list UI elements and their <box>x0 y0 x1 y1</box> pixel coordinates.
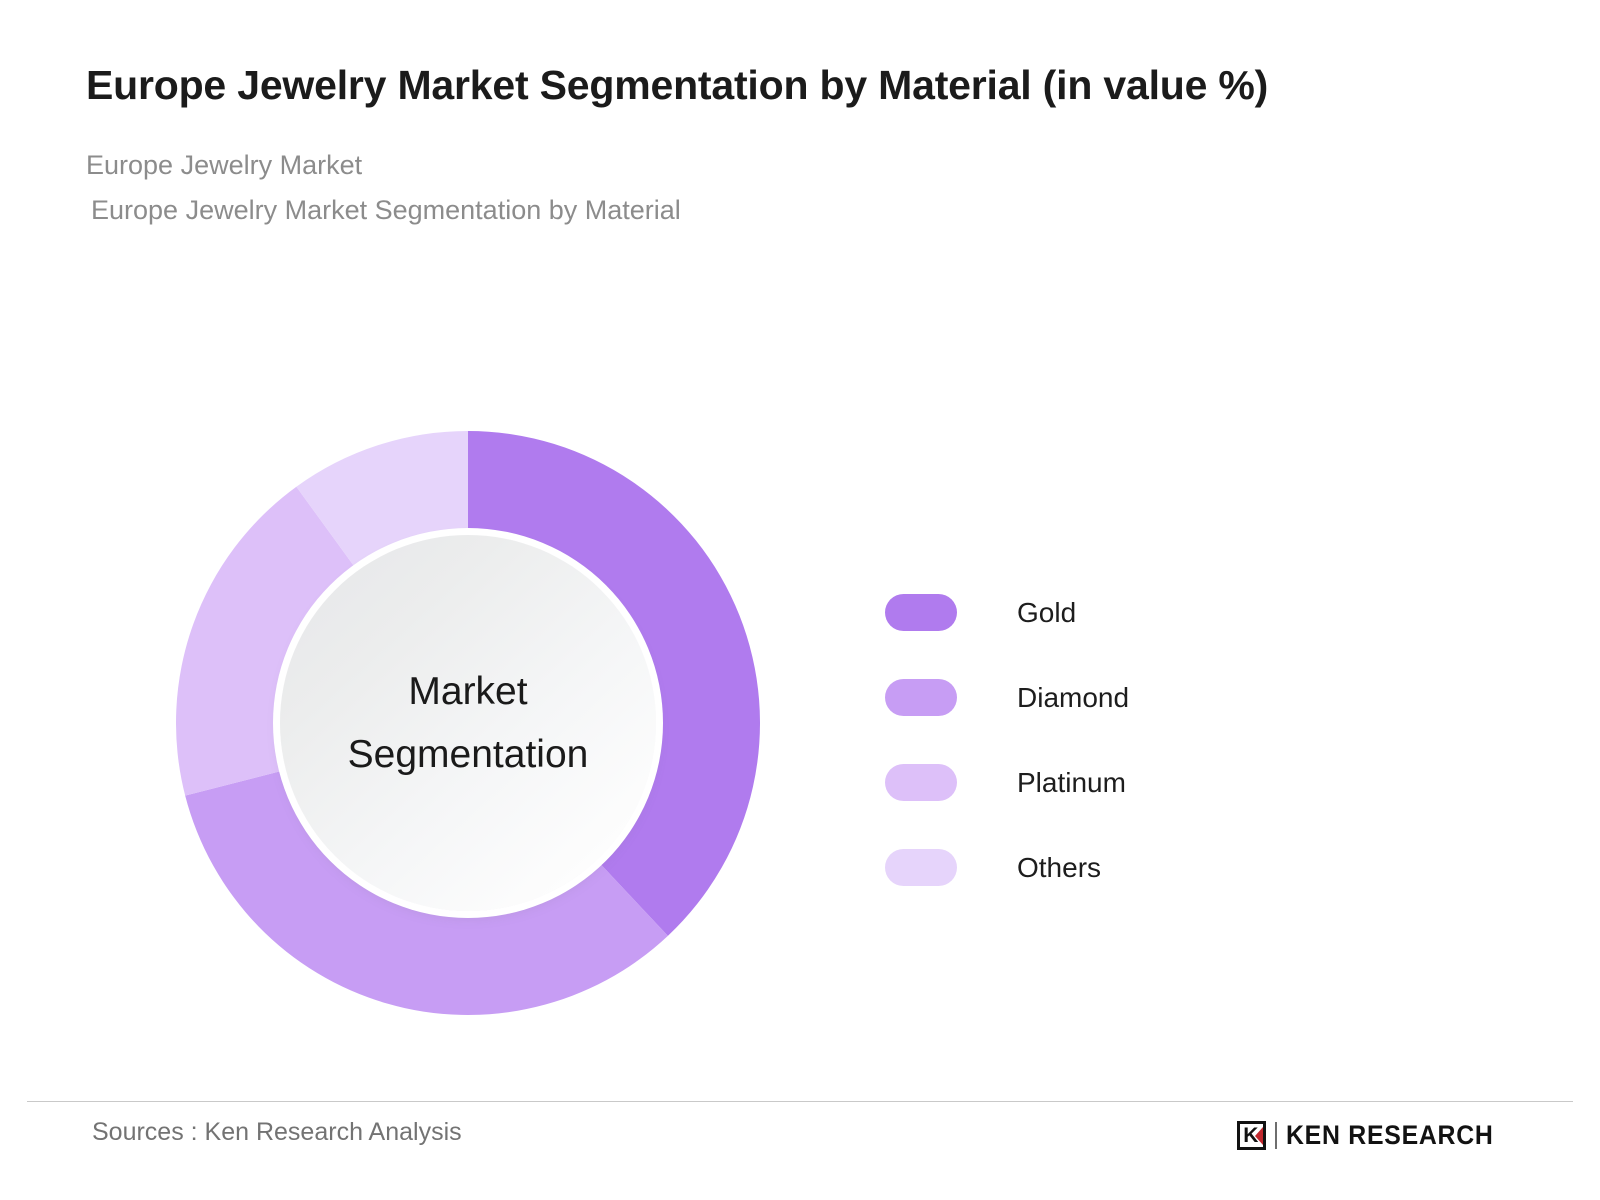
page-title: Europe Jewelry Market Segmentation by Ma… <box>86 58 1386 112</box>
legend-item-diamond[interactable]: Diamond <box>885 655 1305 740</box>
legend-swatch-diamond <box>885 679 957 716</box>
donut-center-line-2: Segmentation <box>348 723 589 786</box>
legend-swatch-others <box>885 849 957 886</box>
donut-chart[interactable]: Market Segmentation <box>176 431 760 1015</box>
footer-source-text: Sources : Ken Research Analysis <box>92 1118 462 1147</box>
chart-subtitle-primary: Europe Jewelry Market <box>86 148 1406 184</box>
chart-subtitle-secondary: Europe Jewelry Market Segmentation by Ma… <box>86 193 1406 229</box>
ken-research-logo: K KEN RESEARCH <box>1237 1117 1512 1153</box>
donut-center-line-1: Market <box>408 660 527 723</box>
legend-item-gold[interactable]: Gold <box>885 570 1305 655</box>
legend-item-platinum[interactable]: Platinum <box>885 740 1305 825</box>
chart-page: Europe Jewelry Market Segmentation by Ma… <box>0 0 1600 1200</box>
donut-center-label: Market Segmentation <box>280 535 656 911</box>
chart-legend: Gold Diamond Platinum Others <box>885 570 1305 910</box>
legend-label-others: Others <box>1017 852 1101 884</box>
logo-k-box-icon: K <box>1237 1121 1266 1150</box>
legend-label-diamond: Diamond <box>1017 682 1129 714</box>
logo-triangle-icon <box>1255 1127 1263 1145</box>
legend-item-others[interactable]: Others <box>885 825 1305 910</box>
chart-header: Europe Jewelry Market Segmentation by Ma… <box>86 58 1406 228</box>
footer-divider <box>27 1101 1573 1102</box>
logo-wordmark: KEN RESEARCH <box>1286 1120 1494 1151</box>
logo-divider-icon <box>1275 1122 1277 1149</box>
legend-label-platinum: Platinum <box>1017 767 1126 799</box>
legend-swatch-platinum <box>885 764 957 801</box>
legend-swatch-gold <box>885 594 957 631</box>
legend-label-gold: Gold <box>1017 597 1076 629</box>
